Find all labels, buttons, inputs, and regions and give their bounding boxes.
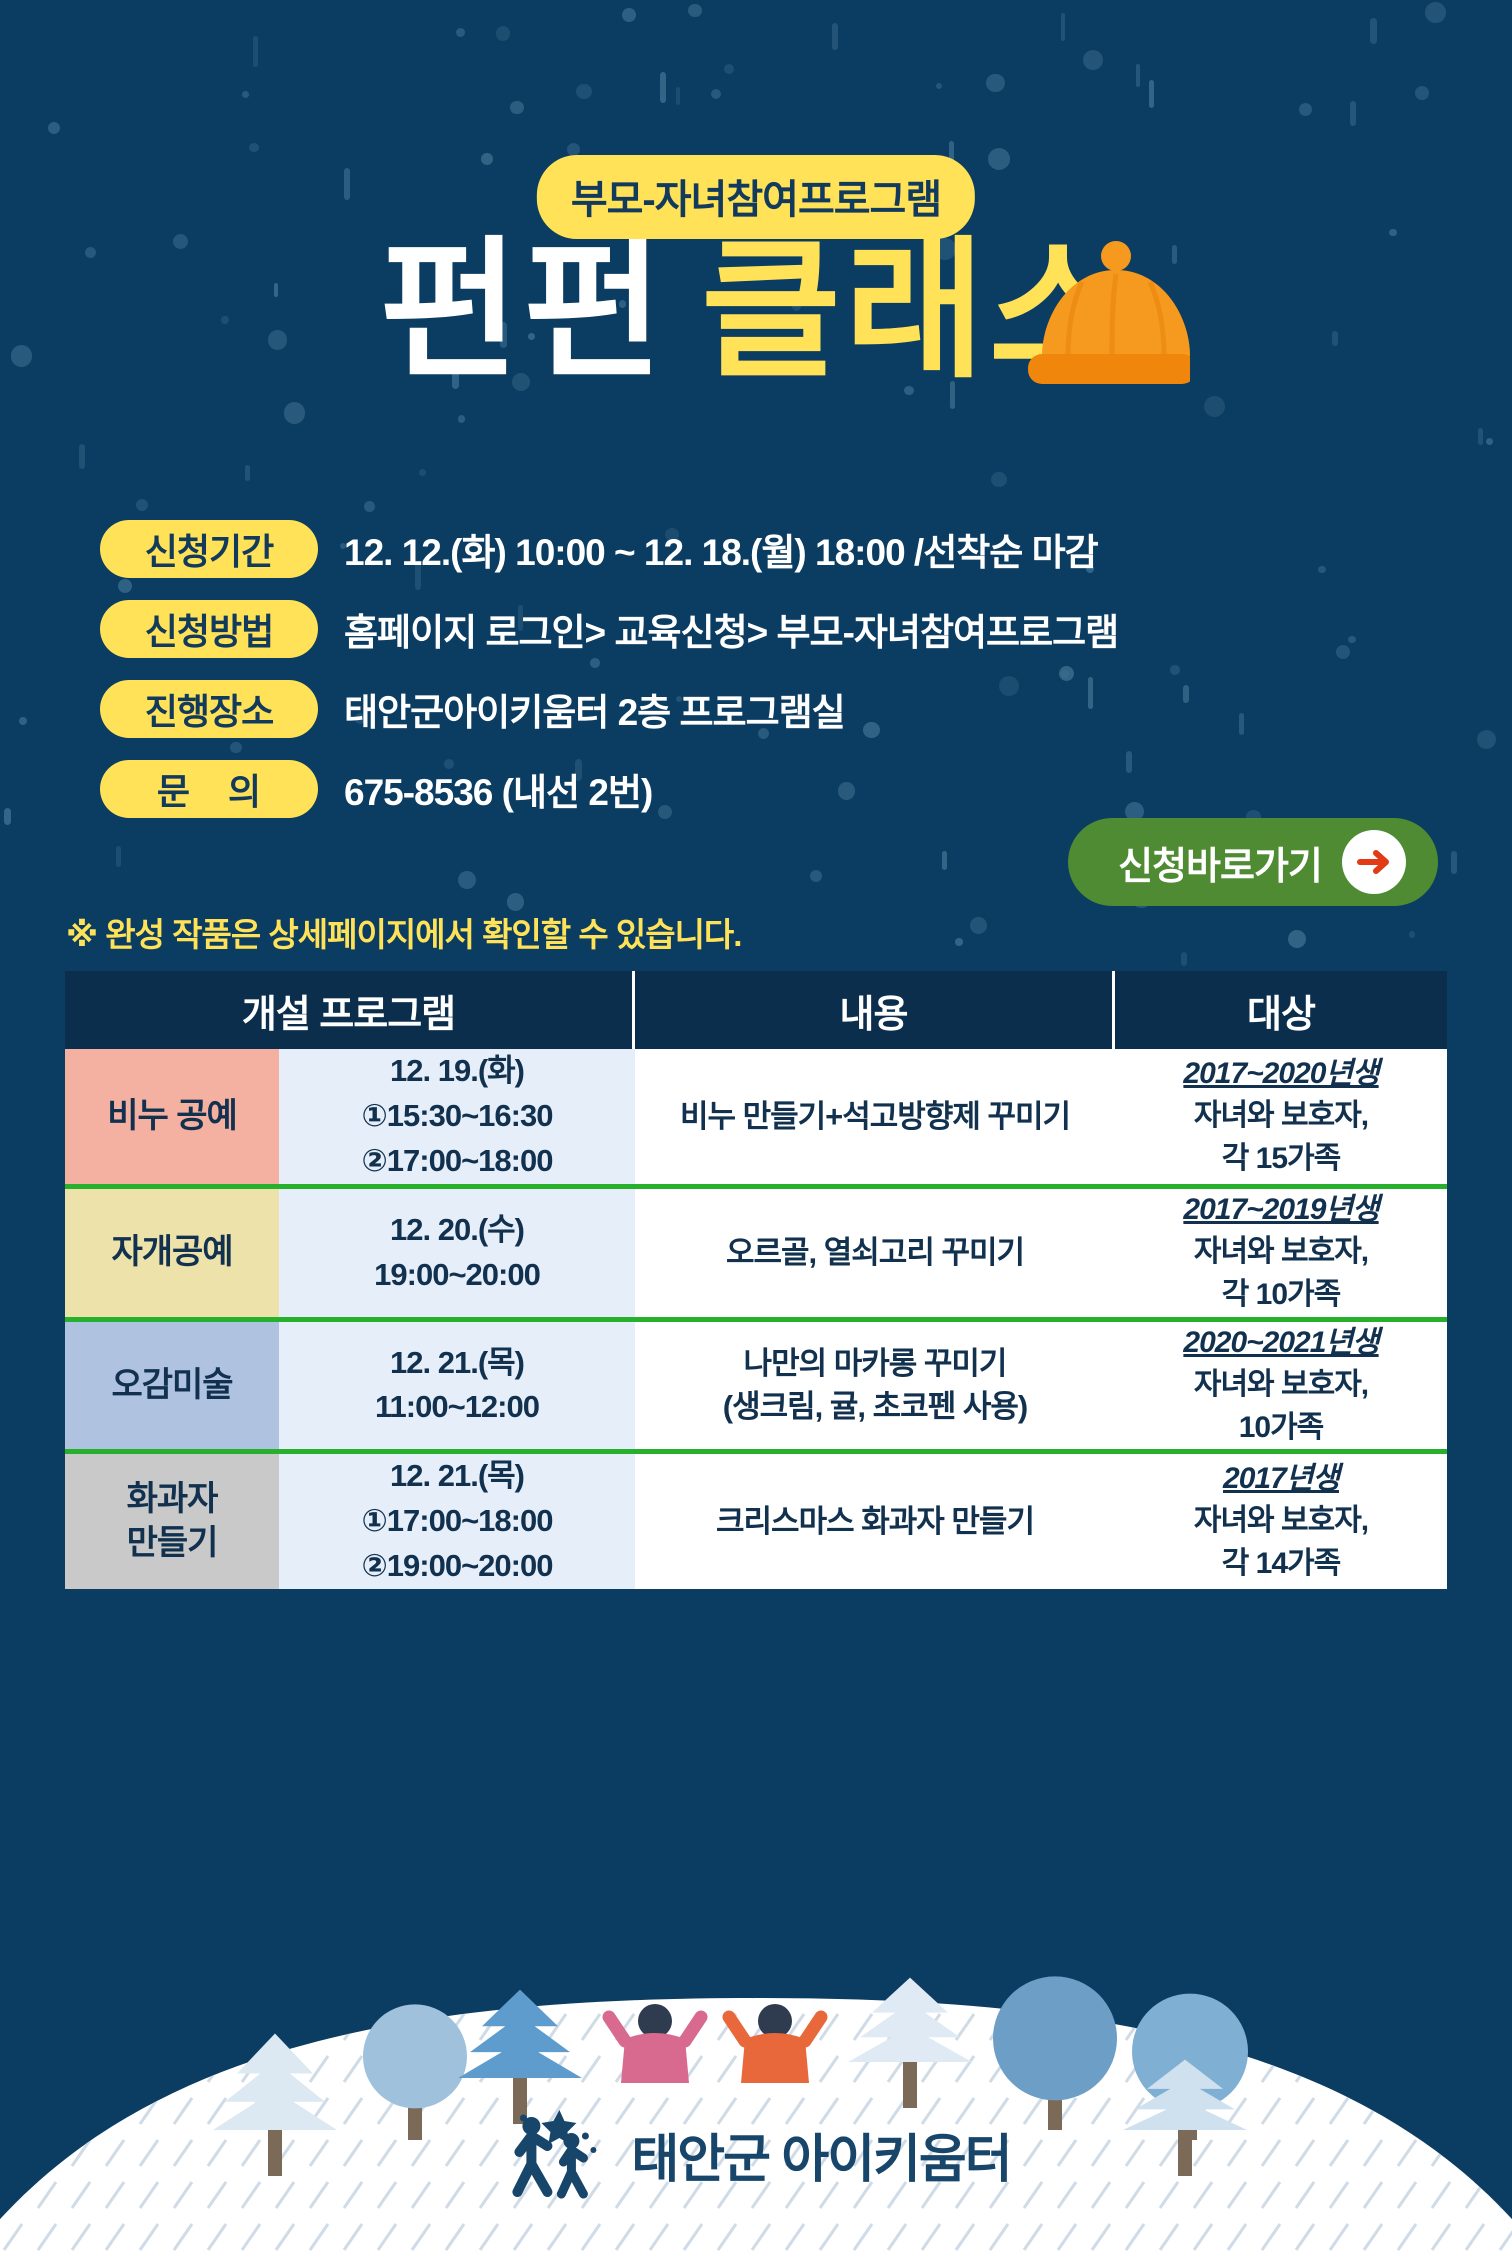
- table-header-target: 대상: [1115, 971, 1447, 1049]
- logo-text: 태안군 아이키움터: [631, 2117, 1010, 2192]
- info-label-period: 신청기간: [100, 520, 318, 578]
- info-value-period: 12. 12.(화) 10:00 ~ 12. 18.(월) 18:00 /선착순…: [344, 522, 1098, 576]
- snow-footer-illustration: [0, 1848, 1512, 2268]
- info-label-contact: 문 의: [100, 760, 318, 818]
- program-category-badge: 부모-자녀참여프로그램: [537, 155, 975, 239]
- schedule-date: 12. 19.(화): [390, 1049, 524, 1094]
- target-line: 자녀와 보호자,: [1194, 1231, 1368, 1274]
- table-cell-schedule: 12. 20.(수)19:00~20:00: [279, 1189, 635, 1317]
- kids-star-icon: [501, 2106, 621, 2202]
- program-line: 만들기: [127, 1522, 218, 1566]
- content-line: 나만의 마카롱 꾸미기: [744, 1342, 1007, 1385]
- schedule-date: 12. 20.(수): [390, 1208, 524, 1253]
- content-line: 크리스마스 화과자 만들기: [716, 1500, 1034, 1543]
- table-row: 오감미술12. 21.(목)11:00~12:00나만의 마카롱 꾸미기(생크림…: [65, 1317, 1447, 1450]
- table-cell-target: 2017~2019년생자녀와 보호자,각 10가족: [1115, 1189, 1447, 1317]
- table-cell-schedule: 12. 21.(목)11:00~12:00: [279, 1322, 635, 1450]
- table-cell-program: 오감미술: [65, 1322, 279, 1450]
- table-header-program: 개설 프로그램: [65, 971, 635, 1049]
- content-line: 비누 만들기+석고방향제 꾸미기: [680, 1095, 1070, 1138]
- schedule-time: ②17:00~18:00: [362, 1139, 553, 1184]
- info-value-contact: 675-8536 (내선 2번): [344, 762, 652, 816]
- winter-scene: [0, 1848, 1512, 2268]
- target-line: 자녀와 보호자,: [1194, 1364, 1368, 1407]
- program-line: 자개공예: [111, 1231, 232, 1275]
- table-header-content: 내용: [635, 971, 1115, 1049]
- table-cell-program: 화과자만들기: [65, 1454, 279, 1589]
- table-row: 자개공예12. 20.(수)19:00~20:00오르골, 열쇠고리 꾸미기20…: [65, 1184, 1447, 1317]
- schedule-time: 19:00~20:00: [374, 1253, 540, 1298]
- table-row: 비누 공예12. 19.(화)①15:30~16:30②17:00~18:00비…: [65, 1049, 1447, 1184]
- table-cell-program: 자개공예: [65, 1189, 279, 1317]
- info-row-place: 진행장소 태안군아이키움터 2층 프로그램실: [100, 680, 1118, 738]
- table-header-row: 개설 프로그램 내용 대상: [65, 971, 1447, 1049]
- table-cell-content: 나만의 마카롱 꾸미기(생크림, 귤, 초코펜 사용): [635, 1322, 1115, 1450]
- program-line: 비누 공예: [107, 1095, 237, 1139]
- schedule-date: 12. 21.(목): [390, 1341, 524, 1386]
- table-cell-target: 2017~2020년생자녀와 보호자,각 15가족: [1115, 1049, 1447, 1184]
- target-birth-years: 2017~2019년생: [1183, 1189, 1378, 1232]
- target-line: 각 10가족: [1222, 1274, 1341, 1317]
- info-label-method: 신청방법: [100, 600, 318, 658]
- title-part-white: 펀펀: [379, 235, 667, 387]
- table-cell-target: 2020~2021년생자녀와 보호자,10가족: [1115, 1322, 1447, 1450]
- info-row-period: 신청기간 12. 12.(화) 10:00 ~ 12. 18.(월) 18:00…: [100, 520, 1118, 578]
- apply-button-label: 신청바로가기: [1118, 835, 1322, 890]
- content-line: 오르골, 열쇠고리 꾸미기: [726, 1231, 1024, 1274]
- schedule-time: 11:00~12:00: [375, 1385, 539, 1430]
- table-cell-program: 비누 공예: [65, 1049, 279, 1184]
- target-birth-years: 2017~2020년생: [1183, 1053, 1378, 1096]
- table-cell-content: 오르골, 열쇠고리 꾸미기: [635, 1189, 1115, 1317]
- note-text: ※ 완성 작품은 상세페이지에서 확인할 수 있습니다.: [66, 908, 741, 956]
- schedule-time: ①17:00~18:00: [362, 1499, 553, 1544]
- content-line: (생크림, 귤, 초코펜 사용): [723, 1385, 1027, 1428]
- target-birth-years: 2020~2021년생: [1183, 1322, 1378, 1365]
- table-cell-target: 2017년생자녀와 보호자,각 14가족: [1115, 1454, 1447, 1589]
- target-line: 자녀와 보호자,: [1194, 1095, 1368, 1138]
- schedule-time: ①15:30~16:30: [362, 1094, 553, 1139]
- table-cell-schedule: 12. 19.(화)①15:30~16:30②17:00~18:00: [279, 1049, 635, 1184]
- schedule-date: 12. 21.(목): [390, 1454, 524, 1499]
- table-cell-content: 크리스마스 화과자 만들기: [635, 1454, 1115, 1589]
- program-table: 개설 프로그램 내용 대상 비누 공예12. 19.(화)①15:30~16:3…: [62, 968, 1450, 1592]
- beanie-hat-icon: [1020, 238, 1190, 418]
- arrow-right-icon: [1342, 830, 1406, 894]
- target-birth-years: 2017년생: [1223, 1458, 1339, 1501]
- table-body: 비누 공예12. 19.(화)①15:30~16:30②17:00~18:00비…: [65, 1049, 1447, 1589]
- program-line: 화과자: [127, 1478, 218, 1522]
- info-value-method: 홈페이지 로그인> 교육신청> 부모-자녀참여프로그램: [344, 602, 1118, 656]
- target-line: 각 15가족: [1222, 1138, 1341, 1181]
- table-cell-schedule: 12. 21.(목)①17:00~18:00②19:00~20:00: [279, 1454, 635, 1589]
- info-list: 신청기간 12. 12.(화) 10:00 ~ 12. 18.(월) 18:00…: [100, 520, 1118, 840]
- schedule-time: ②19:00~20:00: [362, 1544, 553, 1589]
- info-row-method: 신청방법 홈페이지 로그인> 교육신청> 부모-자녀참여프로그램: [100, 600, 1118, 658]
- main-title: 펀펀 클래스: [0, 235, 1512, 387]
- info-row-contact: 문 의 675-8536 (내선 2번): [100, 760, 1118, 818]
- table-row: 화과자만들기12. 21.(목)①17:00~18:00②19:00~20:00…: [65, 1449, 1447, 1589]
- info-label-place: 진행장소: [100, 680, 318, 738]
- target-line: 각 14가족: [1222, 1543, 1341, 1586]
- organization-logo: 태안군 아이키움터: [501, 2106, 1010, 2202]
- target-line: 10가족: [1239, 1407, 1324, 1450]
- poster-root: 부모-자녀참여프로그램 펀펀 클래스 신청기간 12. 12.(화) 10:00…: [0, 0, 1512, 2268]
- apply-now-button[interactable]: 신청바로가기: [1068, 818, 1438, 906]
- program-line: 오감미술: [111, 1364, 232, 1408]
- target-line: 자녀와 보호자,: [1194, 1500, 1368, 1543]
- table-cell-content: 비누 만들기+석고방향제 꾸미기: [635, 1049, 1115, 1184]
- info-value-place: 태안군아이키움터 2층 프로그램실: [344, 682, 845, 736]
